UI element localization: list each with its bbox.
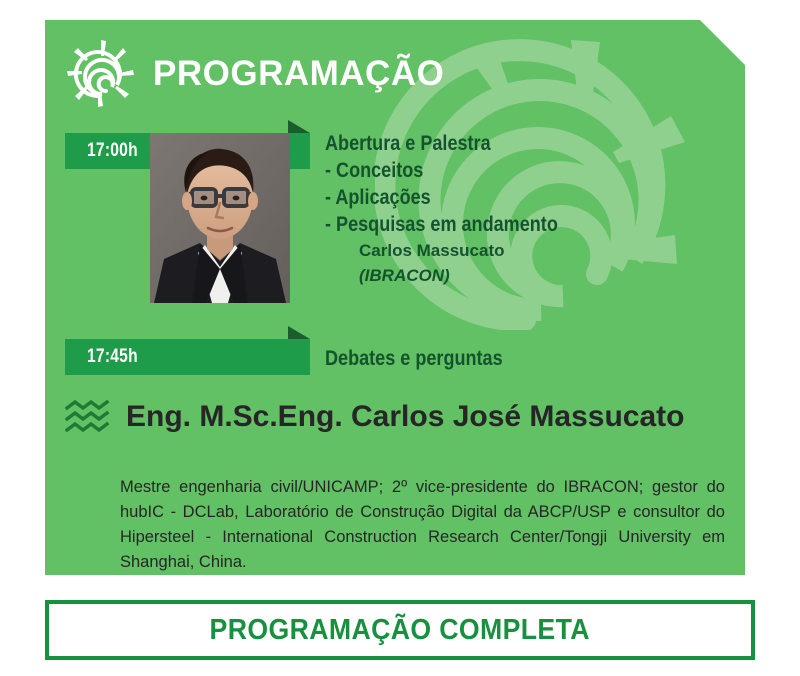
program-heading: Abertura e Palestra xyxy=(325,130,558,157)
speaker-name: Eng. M.Sc.Eng. Carlos José Massucato xyxy=(126,400,685,434)
program-item: - Conceitos xyxy=(325,157,558,184)
program-speaker-name: Carlos Massucato xyxy=(359,238,596,263)
time-ribbon: 17:45h xyxy=(65,339,310,375)
program-item: - Pesquisas em andamento xyxy=(325,211,558,238)
speaker-bio: Mestre engenharia civil/UNICAMP; 2º vice… xyxy=(120,475,725,575)
program-item: - Aplicações xyxy=(325,184,558,211)
program-heading: Debates e perguntas xyxy=(325,347,503,371)
speaker-photo xyxy=(150,133,290,303)
programacao-panel: PROGRAMAÇÃO 17:00h xyxy=(45,20,745,575)
time-label: 17:45h xyxy=(87,346,138,368)
page-title: PROGRAMAÇÃO xyxy=(153,54,444,94)
programacao-completa-button[interactable]: PROGRAMAÇÃO COMPLETA xyxy=(45,600,755,660)
time-label: 17:00h xyxy=(87,140,138,162)
sun-spiral-icon xyxy=(65,38,137,110)
panel-header: PROGRAMAÇÃO xyxy=(65,38,444,110)
speaker-name-row: Eng. M.Sc.Eng. Carlos José Massucato xyxy=(65,400,685,434)
wave-lines-icon xyxy=(65,400,111,434)
ribbon-fold-icon xyxy=(288,326,310,339)
program-list: Abertura e Palestra - Conceitos - Aplica… xyxy=(325,130,596,288)
programacao-completa-label: PROGRAMAÇÃO COMPLETA xyxy=(210,614,590,647)
portrait-image xyxy=(150,133,290,303)
program-speaker-affiliation: (IBRACON) xyxy=(359,263,596,288)
ribbon-fold-icon xyxy=(288,120,310,133)
